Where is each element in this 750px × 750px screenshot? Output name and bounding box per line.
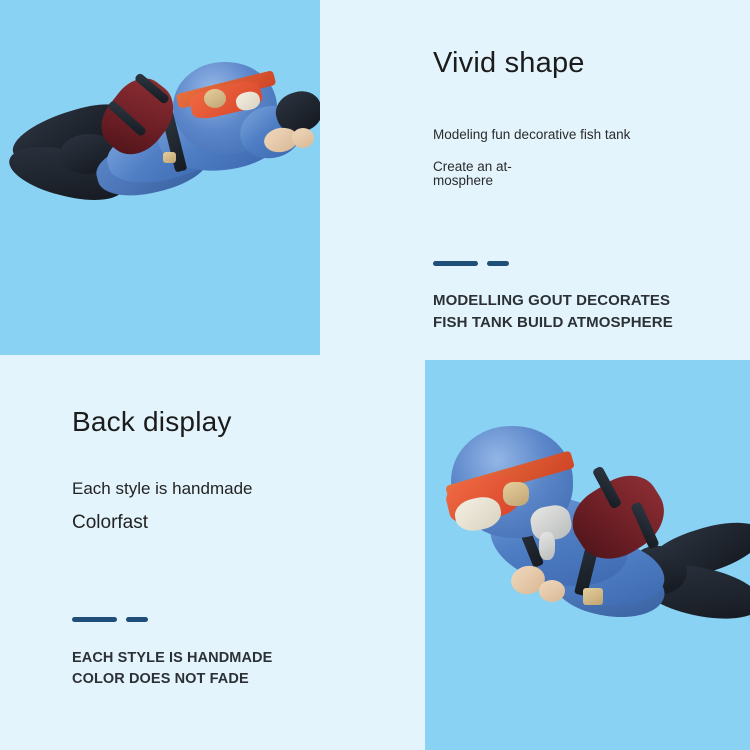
feature-caption: MODELLING GOUT DECORATES FISH TANK BUILD… xyxy=(433,290,743,334)
product-photo-front xyxy=(0,0,320,355)
feature-subline-secondary: Create an at-mosphere xyxy=(433,160,543,188)
diver-figurine-front xyxy=(8,62,318,262)
belt-buckle-icon xyxy=(163,152,176,163)
feature-subline-primary: Modeling fun decorative fish tank xyxy=(433,127,743,144)
feature-subline-primary: Each style is handmade xyxy=(72,478,402,499)
belt-buckle-icon xyxy=(583,588,603,605)
feature-subline-secondary: Colorfast xyxy=(72,513,402,533)
divider xyxy=(433,261,743,266)
product-feature-collage: Vivid shape Modeling fun decorative fish… xyxy=(0,0,750,750)
feature-caption: EACH STYLE IS HANDMADE COLOR DOES NOT FA… xyxy=(72,648,402,690)
hand-secondary xyxy=(539,580,565,602)
page-title: Vivid shape xyxy=(433,48,743,80)
feature-text-back-display: Back display Each style is handmade Colo… xyxy=(0,355,425,750)
caption-line: EACH STYLE IS HANDMADE xyxy=(72,648,402,669)
caption-line: COLOR DOES NOT FADE xyxy=(72,669,402,690)
divider xyxy=(72,617,402,622)
caption-line: MODELLING GOUT DECORATES xyxy=(433,290,743,312)
dash-short-icon xyxy=(126,617,148,622)
section-title: Back display xyxy=(72,407,402,438)
mask-buckle-icon xyxy=(204,89,226,108)
mask-buckle-icon xyxy=(503,482,529,506)
hand-secondary xyxy=(292,128,314,148)
product-photo-back xyxy=(425,360,750,750)
dash-long-icon xyxy=(72,617,117,622)
diver-figurine-back xyxy=(435,420,750,670)
feature-text-vivid-shape: Vivid shape Modeling fun decorative fish… xyxy=(320,0,750,360)
dash-long-icon xyxy=(433,261,478,266)
regulator-hose xyxy=(539,532,555,560)
dash-short-icon xyxy=(487,261,509,266)
caption-line: FISH TANK BUILD ATMOSPHERE xyxy=(433,312,743,334)
